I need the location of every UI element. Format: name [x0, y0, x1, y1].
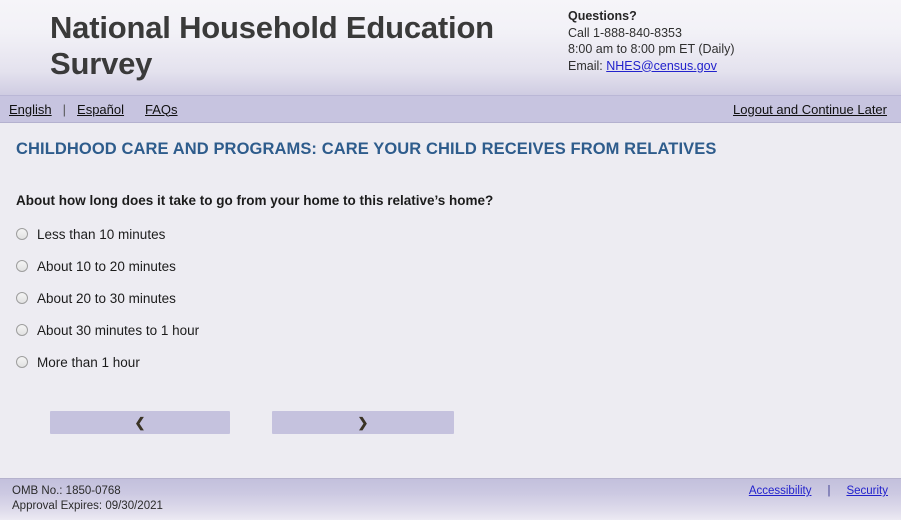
- omb-number: OMB No.: 1850-0768: [12, 484, 163, 499]
- security-link[interactable]: Security: [846, 485, 888, 497]
- contact-email-row: Email: NHES@census.gov: [568, 58, 735, 75]
- approval-expires: Approval Expires: 09/30/2021: [12, 499, 163, 514]
- option-label: About 30 minutes to 1 hour: [37, 323, 199, 338]
- radio-icon[interactable]: [16, 356, 28, 368]
- contact-info-block: Questions? Call 1-888-840-8353 8:00 am t…: [568, 8, 735, 74]
- option-about-20-to-30-minutes[interactable]: About 20 to 30 minutes: [16, 282, 516, 314]
- option-about-10-to-20-minutes[interactable]: About 10 to 20 minutes: [16, 250, 516, 282]
- contact-phone: Call 1-888-840-8353: [568, 25, 735, 42]
- option-label: Less than 10 minutes: [37, 227, 165, 242]
- nav-links-left: English | Español FAQs: [7, 96, 180, 122]
- chevron-right-icon: ❯: [358, 416, 369, 429]
- footer-links: Accessibility | Security: [749, 485, 888, 497]
- radio-icon[interactable]: [16, 228, 28, 240]
- radio-group-travel-time: Less than 10 minutes About 10 to 20 minu…: [16, 218, 516, 378]
- survey-page: National Household Education Survey Ques…: [0, 0, 901, 520]
- nav-link-faqs[interactable]: FAQs: [143, 102, 180, 117]
- nav-link-english[interactable]: English: [7, 102, 54, 117]
- site-title: National Household Education Survey: [50, 10, 550, 82]
- footer-separator: |: [811, 485, 846, 497]
- nav-links-right: Logout and Continue Later: [731, 96, 889, 122]
- nav-separator: |: [54, 102, 75, 117]
- chevron-left-icon: ❮: [135, 416, 146, 429]
- question-text: About how long does it take to go from y…: [16, 193, 493, 208]
- contact-email-link[interactable]: NHES@census.gov: [606, 59, 717, 73]
- page-header: National Household Education Survey Ques…: [0, 0, 901, 95]
- option-less-than-10-minutes[interactable]: Less than 10 minutes: [16, 218, 516, 250]
- radio-icon[interactable]: [16, 324, 28, 336]
- next-button[interactable]: ❯: [272, 411, 454, 434]
- option-more-than-1-hour[interactable]: More than 1 hour: [16, 346, 516, 378]
- footer-omb-block: OMB No.: 1850-0768 Approval Expires: 09/…: [12, 484, 163, 514]
- option-label: About 10 to 20 minutes: [37, 259, 176, 274]
- language-nav-bar: English | Español FAQs Logout and Contin…: [0, 95, 901, 123]
- option-about-30-minutes-to-1-hour[interactable]: About 30 minutes to 1 hour: [16, 314, 516, 346]
- radio-icon[interactable]: [16, 292, 28, 304]
- contact-hours: 8:00 am to 8:00 pm ET (Daily): [568, 41, 735, 58]
- back-button[interactable]: ❮: [50, 411, 230, 434]
- page-footer: OMB No.: 1850-0768 Approval Expires: 09/…: [0, 478, 901, 520]
- main-content: CHILDHOOD CARE AND PROGRAMS: CARE YOUR C…: [0, 123, 901, 478]
- accessibility-link[interactable]: Accessibility: [749, 485, 812, 497]
- contact-email-label: Email:: [568, 59, 603, 73]
- section-title: CHILDHOOD CARE AND PROGRAMS: CARE YOUR C…: [16, 140, 716, 159]
- nav-link-espanol[interactable]: Español: [75, 102, 126, 117]
- option-label: More than 1 hour: [37, 355, 140, 370]
- contact-heading: Questions?: [568, 8, 735, 25]
- radio-icon[interactable]: [16, 260, 28, 272]
- option-label: About 20 to 30 minutes: [37, 291, 176, 306]
- logout-and-continue-later-link[interactable]: Logout and Continue Later: [731, 102, 889, 117]
